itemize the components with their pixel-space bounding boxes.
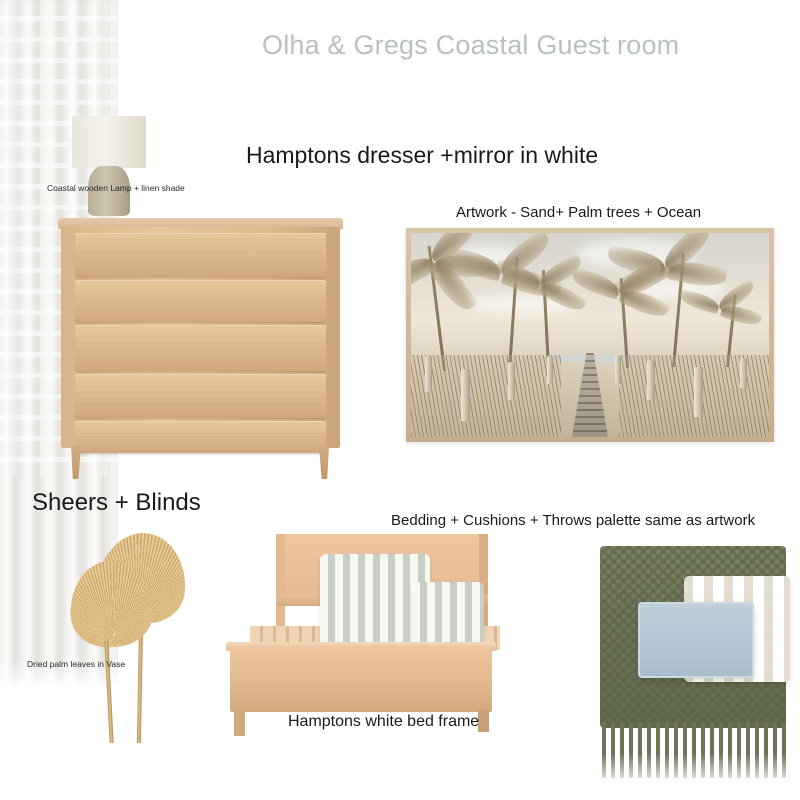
artwork-canvas bbox=[411, 233, 769, 437]
label-lamp: Coastal wooden Lamp + linen shade bbox=[47, 183, 185, 193]
dresser-drawer bbox=[75, 325, 326, 371]
dresser-leg bbox=[319, 446, 329, 479]
dresser-drawer bbox=[75, 421, 326, 453]
bed-leg bbox=[234, 710, 245, 736]
artwork-fence-post bbox=[425, 356, 432, 392]
label-sheers: Sheers + Blinds bbox=[32, 489, 201, 517]
dresser-leg bbox=[71, 446, 81, 479]
artwork-fence-post bbox=[508, 362, 515, 400]
throw-fringe bbox=[602, 722, 786, 778]
bed-leg bbox=[478, 710, 489, 732]
label-bedding: Bedding + Cushions + Throws palette same… bbox=[391, 512, 755, 529]
label-artwork: Artwork - Sand+ Palm trees + Ocean bbox=[456, 204, 701, 221]
artwork-framed-print bbox=[406, 228, 774, 442]
palm-leaf-stem bbox=[104, 641, 113, 743]
hamptons-dresser bbox=[58, 218, 343, 480]
striped-cushion-small bbox=[412, 582, 484, 648]
dresser-drawer bbox=[75, 233, 326, 277]
board-title: Olha & Gregs Coastal Guest room bbox=[262, 30, 679, 61]
bed-headboard-post bbox=[276, 534, 285, 626]
mood-board: Olha & Gregs Coastal Guest room Hamptons… bbox=[0, 0, 800, 800]
label-dried-palm: Dried palm leaves in Vase bbox=[27, 659, 125, 669]
hamptons-bed-frame bbox=[216, 530, 506, 730]
artwork-dune-grass bbox=[411, 355, 561, 437]
artwork-fence-post bbox=[740, 358, 747, 388]
blue-lumbar-cushion bbox=[638, 602, 754, 678]
label-dresser: Hamptons dresser +mirror in white bbox=[246, 142, 598, 169]
bedding-textiles-group bbox=[592, 540, 798, 798]
dresser-drawer bbox=[75, 280, 326, 322]
artwork-fence-post bbox=[547, 356, 553, 384]
dresser-drawer bbox=[75, 374, 326, 418]
artwork-fence-post bbox=[461, 369, 470, 421]
bed-footboard bbox=[230, 646, 492, 712]
artwork-fence-post bbox=[647, 360, 655, 400]
coastal-wooden-lamp bbox=[72, 116, 146, 216]
lamp-linen-shade bbox=[72, 116, 146, 168]
dried-palm-leaves bbox=[62, 533, 197, 748]
artwork-palm-frond bbox=[720, 302, 763, 329]
artwork-fence-post bbox=[694, 367, 703, 417]
dresser-body bbox=[61, 227, 340, 448]
artwork-boardwalk bbox=[572, 353, 608, 437]
artwork-fence-post bbox=[615, 356, 621, 384]
label-bed-frame: Hamptons white bed frame bbox=[288, 713, 479, 731]
